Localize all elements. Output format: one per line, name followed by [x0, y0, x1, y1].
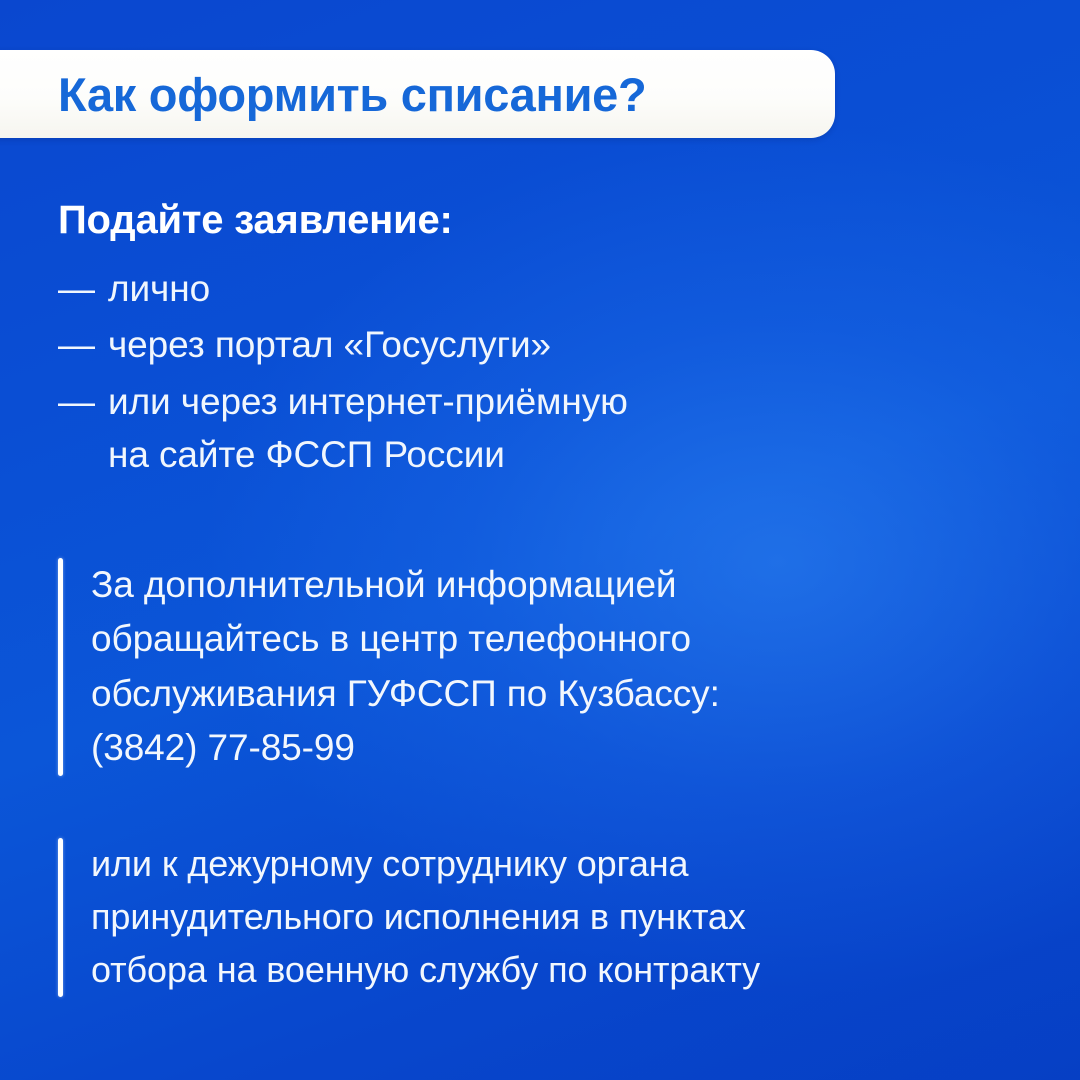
page-title: Как оформить списание?	[58, 71, 646, 118]
duty-officer-block: или к дежурному сотруднику органа принуд…	[58, 838, 998, 997]
contact-info-line: обращайтесь в центр телефонного	[91, 612, 938, 666]
list-item: — или через интернет-приёмную на сайте Ф…	[58, 375, 938, 482]
list-item-text: лично	[108, 262, 938, 315]
list-item: — лично	[58, 262, 938, 315]
application-methods-list: — лично — через портал «Госуслуги» — или…	[58, 262, 938, 484]
contact-info-text: За дополнительной информацией обращайтес…	[63, 558, 938, 776]
contact-info-line: обслуживания ГУФССП по Кузбассу:	[91, 667, 938, 721]
list-item-text: через портал «Госуслуги»	[108, 318, 938, 371]
list-item-line: лично	[108, 262, 938, 315]
poster-canvas: Как оформить списание? Подайте заявление…	[0, 0, 1080, 1080]
duty-officer-line: или к дежурному сотруднику органа	[91, 838, 998, 891]
duty-officer-line: принудительного исполнения в пунктах	[91, 891, 998, 944]
contact-info-line: За дополнительной информацией	[91, 558, 938, 612]
list-item: — через портал «Госуслуги»	[58, 318, 938, 371]
subheading: Подайте заявление:	[58, 195, 453, 245]
phone-number: (3842) 77-85-99	[91, 721, 938, 775]
list-item-line: на сайте ФССП России	[108, 428, 938, 481]
em-dash-icon: —	[58, 375, 108, 428]
list-item-line: или через интернет-приёмную	[108, 375, 938, 428]
list-item-line: через портал «Госуслуги»	[108, 318, 938, 371]
list-item-text: или через интернет-приёмную на сайте ФСС…	[108, 375, 938, 482]
duty-officer-text: или к дежурному сотруднику органа принуд…	[63, 838, 998, 997]
duty-officer-line: отбора на военную службу по контракту	[91, 944, 998, 997]
title-banner: Как оформить списание?	[0, 50, 835, 138]
contact-info-block: За дополнительной информацией обращайтес…	[58, 558, 938, 776]
em-dash-icon: —	[58, 318, 108, 371]
em-dash-icon: —	[58, 262, 108, 315]
